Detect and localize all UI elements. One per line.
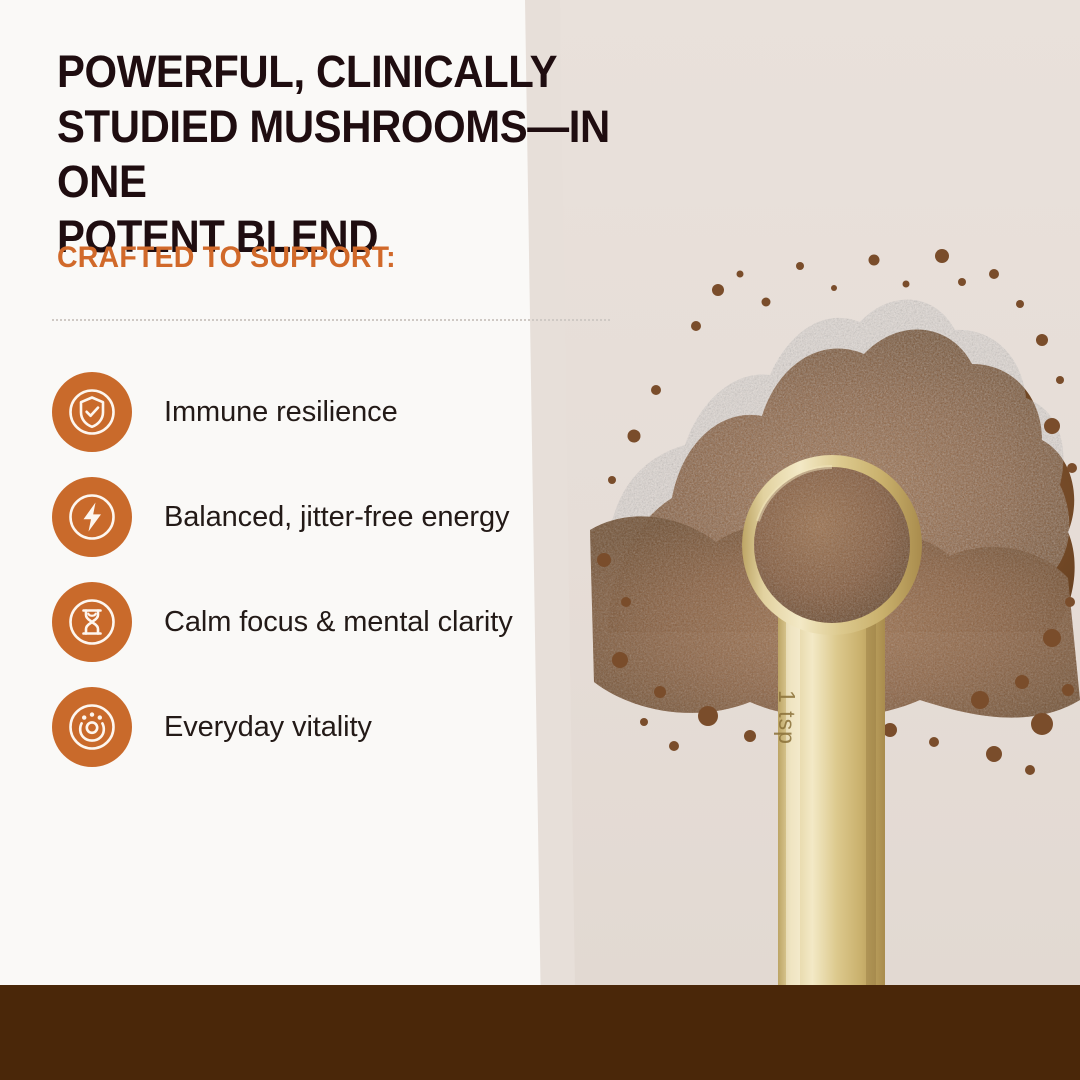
powder-and-spoon-illustration [590, 230, 1080, 1080]
lightning-bolt-icon [52, 477, 132, 557]
list-item-label: Calm focus & mental clarity [164, 603, 513, 641]
text-column: POWERFUL, CLINICALLY STUDIED MUSHROOMS—I… [0, 0, 640, 1080]
spoon-bowl [742, 455, 922, 635]
infographic-canvas: 1 tsp POWERFUL, CLINICALLY STUDIED MUSHR… [0, 0, 1080, 1080]
list-item: Balanced, jitter-free energy [52, 477, 632, 582]
list-item-label: Everyday vitality [164, 708, 372, 746]
product-image [590, 230, 1080, 1080]
shield-check-icon [52, 372, 132, 452]
benefits-list: Immune resilience Balanced, jitter-free … [52, 372, 632, 792]
section-divider [52, 319, 610, 323]
hands-holding-person-icon [52, 687, 132, 767]
list-item-label: Immune resilience [164, 393, 398, 431]
spoon-engraving-label: 1 tsp [773, 690, 800, 745]
subheading: CRAFTED TO SUPPORT: [57, 239, 396, 277]
page-title: POWERFUL, CLINICALLY STUDIED MUSHROOMS—I… [57, 44, 615, 264]
hourglass-icon [52, 582, 132, 662]
list-item: Everyday vitality [52, 687, 632, 792]
list-item: Calm focus & mental clarity [52, 582, 632, 687]
list-item: Immune resilience [52, 372, 632, 477]
list-item-label: Balanced, jitter-free energy [164, 498, 509, 536]
